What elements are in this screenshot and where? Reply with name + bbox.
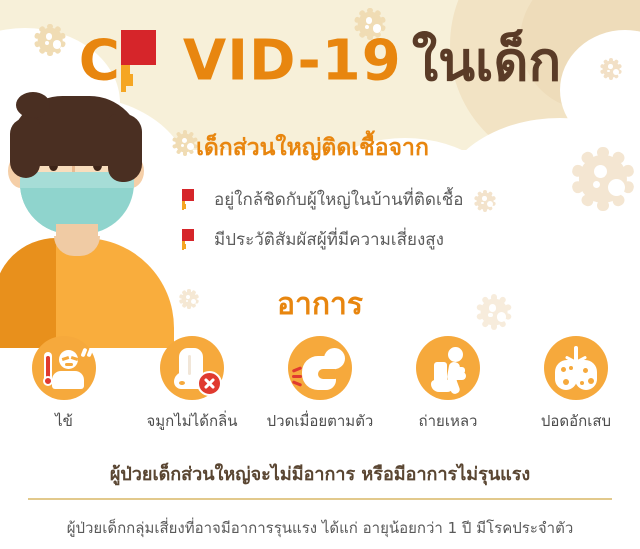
symptom-label: ปวดเมื่อยตามตัว [260,409,380,433]
lungs-pneumonia-icon [544,336,608,400]
diarrhea-toilet-icon [416,336,480,400]
symptom-label: ถ่ายเหลว [388,409,508,433]
bullet-item: อยู่ใกล้ชิดกับผู้ใหญ่ในบ้านที่ติดเชื้อ [182,186,464,213]
symptom-list: ไข้ จมูกไม่ได้กลิ่น ปวดเมื่อยต [0,336,640,433]
nose-no-smell-icon [160,336,224,400]
decorative-virus-icon [560,136,640,222]
virus-icon [121,30,183,92]
bullet-label: มีประวัติสัมผัสผู้ที่มีความเสี่ยงสูง [214,226,444,253]
bullet-label: อยู่ใกล้ชิดกับผู้ใหญ่ในบ้านที่ติดเชื้อ [214,186,464,213]
symptom-item-loss-of-smell: จมูกไม่ได้กลิ่น [132,336,252,433]
symptom-label: ปอดอักเสบ [516,409,636,433]
hair-side-left [10,118,40,178]
symptoms-heading: อาการ [0,281,640,328]
footer-main-text: ผู้ป่วยเด็กส่วนใหญ่จะไม่มีอาการ หรือมีอา… [0,459,640,488]
infographic-poster: CVID-19ในเด็ก เด็กส่วนใหญ่ติดเชื้อจาก อย… [0,0,640,549]
decorative-virus-icon [470,186,500,216]
symptom-item-pneumonia: ปอดอักเสบ [516,336,636,433]
symptom-label: จมูกไม่ได้กลิ่น [132,409,252,433]
x-mark-icon [197,371,222,396]
title-thai: ในเด็ก [412,30,562,93]
fever-thermometer-icon [32,336,96,400]
title-covid-rest: VID-19 [183,29,402,94]
footer-sub-text: ผู้ป่วยเด็กกลุ่มเสี่ยงที่อาจมีอาการรุนแร… [0,516,640,540]
hair-tuft [16,92,50,118]
virus-bullet-icon [182,229,204,251]
infected-from-heading: เด็กส่วนใหญ่ติดเชื้อจาก [196,130,429,166]
bullet-item: มีประวัติสัมผัสผู้ที่มีความเสี่ยงสูง [182,226,444,253]
divider [28,498,612,500]
virus-bullet-icon [182,189,204,211]
symptom-item-diarrhea: ถ่ายเหลว [388,336,508,433]
boy-with-mask-illustration [2,96,162,296]
symptom-label: ไข้ [4,409,124,433]
symptom-item-fever: ไข้ [4,336,124,433]
symptom-item-body-ache: ปวดเมื่อยตามตัว [260,336,380,433]
title-letter-c: C [79,29,121,94]
poster-title: CVID-19ในเด็ก [0,18,640,104]
hair-side-right [108,114,142,182]
body-ache-icon [288,336,352,400]
